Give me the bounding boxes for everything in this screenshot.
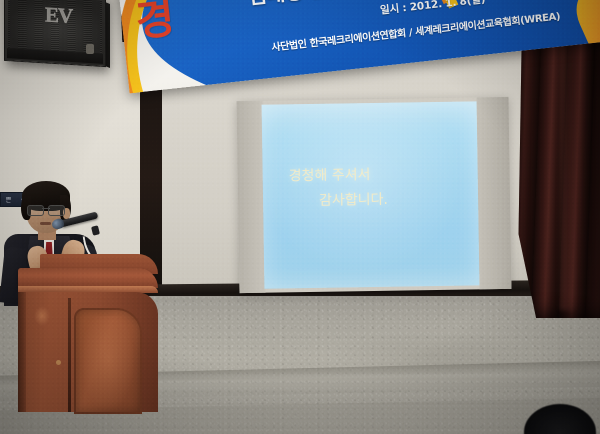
podium-carving [34, 306, 50, 326]
side-curtain [515, 18, 600, 318]
lecture-hall-photo: 경 김태영 전)국방부장관 지·덕·용의 리더십 특강 일시 : 2012. 1… [0, 0, 600, 434]
podium-panel-highlight [81, 316, 135, 412]
slide-line-2: 감사합니다. [263, 186, 478, 214]
presenter-mouth [40, 222, 51, 225]
podium-top-surface [18, 268, 158, 288]
ev-brand-logo: EV [45, 2, 72, 29]
podium-knob [56, 360, 61, 365]
podium-front-panel [74, 308, 142, 414]
slide-line-1: 경청해 주셔서 [263, 161, 478, 189]
podium-seam [68, 298, 71, 412]
banner-left-character: 경 [132, 0, 176, 49]
speaker-mount-bracket [86, 44, 94, 54]
slide-text-block: 경청해 주셔서 감사합니다. [263, 161, 479, 214]
projection-screen: 경청해 주셔서 감사합니다. [237, 97, 512, 293]
podium-left-edge [18, 292, 26, 412]
presenter-glasses [27, 205, 65, 214]
wooden-podium [18, 268, 158, 412]
ev-loudspeaker: EV [4, 0, 106, 67]
screen-right-edge [476, 97, 511, 289]
projected-slide: 경청해 주셔서 감사합니다. [262, 101, 480, 288]
side-curtain-fold [560, 20, 576, 310]
glasses-bridge [42, 208, 50, 209]
